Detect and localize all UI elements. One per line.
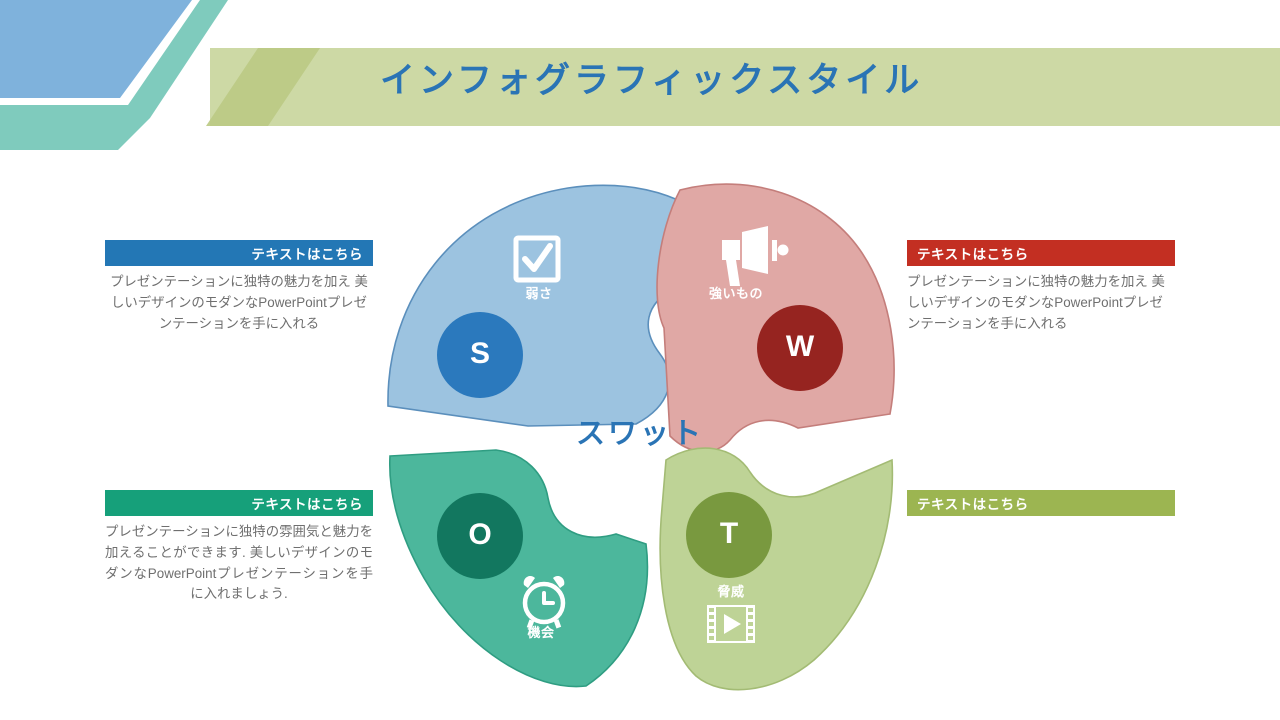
text-block-bottom-right: テキストはこちら: [907, 490, 1175, 522]
film-play-icon: [707, 605, 755, 643]
text-block-top-right: テキストはこちら プレゼンテーションに独特の魅力を加え 美しいデザインのモダンな…: [907, 240, 1175, 334]
petal-letter-s: S: [440, 339, 520, 369]
text-block-bottom-left: テキストはこちら プレゼンテーションに独特の雰囲気と魅力を加えることができます.…: [105, 490, 373, 605]
text-block-body-top-right: プレゼンテーションに独特の魅力を加え 美しいデザインのモダンなPowerPoin…: [907, 272, 1175, 334]
text-block-body-bottom-left: プレゼンテーションに独特の雰囲気と魅力を加えることができます. 美しいデザインの…: [105, 522, 373, 605]
petal-shape-o[interactable]: [390, 450, 648, 687]
petal-shape-t[interactable]: [660, 448, 892, 690]
petal-letter-t: T: [689, 519, 769, 549]
petal-label-s: 弱さ: [499, 283, 579, 302]
text-block-top-left: テキストはこちら プレゼンテーションに独特の魅力を加え 美しいデザインのモダンな…: [105, 240, 373, 334]
center-label: スワット: [560, 410, 720, 452]
text-block-header-top-left[interactable]: テキストはこちら: [105, 240, 373, 266]
petal-label-o: 機会: [501, 622, 581, 641]
petal-letter-w: W: [760, 332, 840, 362]
slide-canvas: インフォグラフィックスタイル: [0, 0, 1280, 720]
petal-label-w: 強いもの: [686, 283, 786, 302]
text-block-header-top-right[interactable]: テキストはこちら: [907, 240, 1175, 266]
petal-shape-s[interactable]: [388, 185, 678, 426]
text-block-header-bottom-right[interactable]: テキストはこちら: [907, 490, 1175, 516]
text-block-header-bottom-left[interactable]: テキストはこちら: [105, 490, 373, 516]
petal-label-t: 脅威: [691, 581, 771, 600]
petal-letter-o: O: [440, 520, 520, 550]
teal-chevron-foot: [0, 118, 150, 150]
text-block-body-top-left: プレゼンテーションに独特の魅力を加え 美しいデザインのモダンなPowerPoin…: [105, 272, 373, 334]
page-title: インフォグラフィックスタイル: [380, 52, 920, 103]
